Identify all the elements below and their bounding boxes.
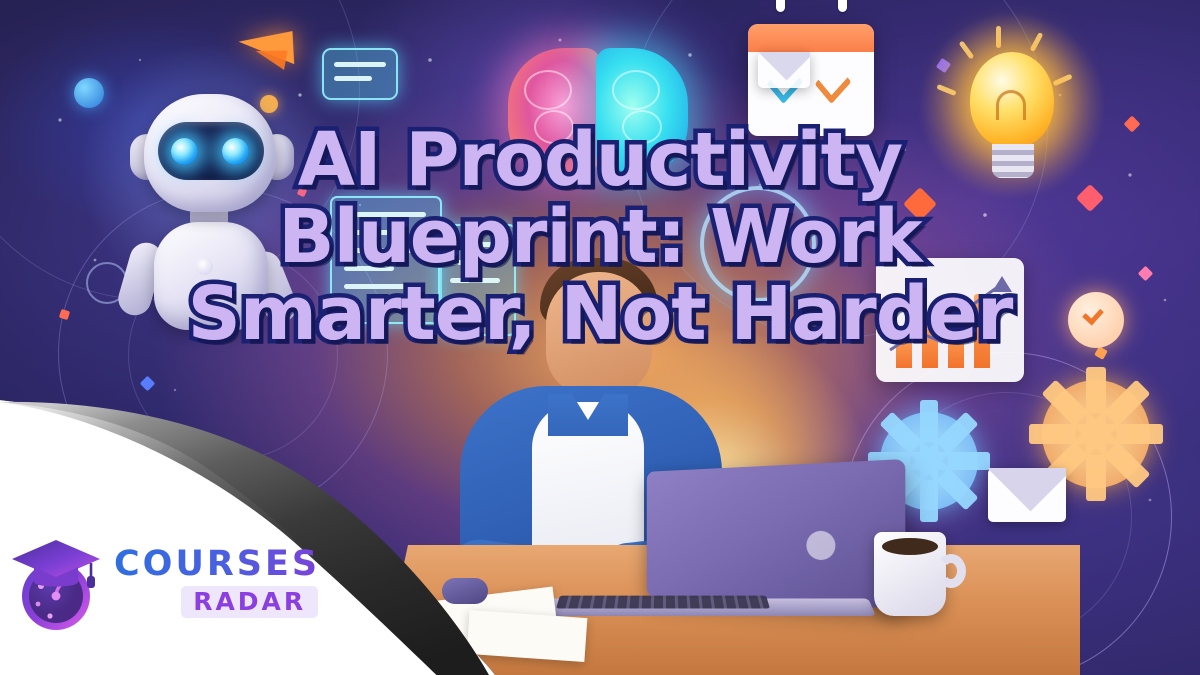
logo-radar-blip xyxy=(47,613,52,618)
envelope-flap xyxy=(758,52,810,88)
logo-radar-icon xyxy=(8,530,104,634)
chat-bubble-line xyxy=(334,62,386,67)
split-brain-icon xyxy=(508,48,688,176)
document-line xyxy=(450,260,492,265)
person-head xyxy=(546,272,652,396)
brain-gyrus xyxy=(622,110,662,144)
logo-radar-blip xyxy=(36,602,41,607)
document-line xyxy=(450,242,502,247)
calendar-header xyxy=(748,24,874,52)
document-line xyxy=(450,278,500,283)
document-line xyxy=(344,212,426,217)
logo-radar-center xyxy=(52,592,61,601)
clock-hand-hour xyxy=(756,218,761,246)
lightbulb-icon xyxy=(952,46,1072,196)
robot-chest-light xyxy=(196,258,213,275)
logo-cap-top xyxy=(12,540,100,578)
calendar-checkmark xyxy=(815,62,852,104)
document-line xyxy=(344,266,394,271)
laptop-keyboard xyxy=(556,596,770,609)
robot-mascot xyxy=(108,72,308,344)
poster-canvas: AI Productivity Blueprint: Work Smarter,… xyxy=(0,0,1200,675)
lightbulb-base xyxy=(992,144,1034,178)
logo-text-radar: RADAR xyxy=(181,586,318,618)
coffee-liquid xyxy=(882,538,938,555)
brain-gyrus xyxy=(524,70,572,110)
brain-gyrus xyxy=(612,70,660,110)
courses-radar-logo[interactable]: COURSES RADAR xyxy=(8,528,276,636)
lightbulb-ray xyxy=(996,26,1001,48)
robot-body xyxy=(154,222,268,330)
mug-handle xyxy=(936,554,966,588)
document-line xyxy=(344,230,408,235)
robot-eye-left xyxy=(171,138,198,165)
brain-gyrus xyxy=(534,110,574,144)
chat-bubble-line xyxy=(334,76,372,81)
logo-wordmark: COURSES RADAR xyxy=(114,547,320,618)
document-line xyxy=(344,248,420,253)
envelope-icon xyxy=(758,52,810,88)
logo-cap-tassel xyxy=(87,576,95,588)
calendar-ring xyxy=(776,0,785,12)
logo-text-courses: COURSES xyxy=(114,547,320,582)
document-line xyxy=(344,284,414,289)
calendar-ring xyxy=(838,0,847,12)
laptop-logo xyxy=(806,531,835,560)
coffee-mug xyxy=(874,532,946,616)
lightbulb-filament xyxy=(996,90,1026,120)
chat-bubble-icon xyxy=(322,48,398,100)
laptop-screen xyxy=(647,459,906,609)
robot-eye-right xyxy=(222,138,249,165)
